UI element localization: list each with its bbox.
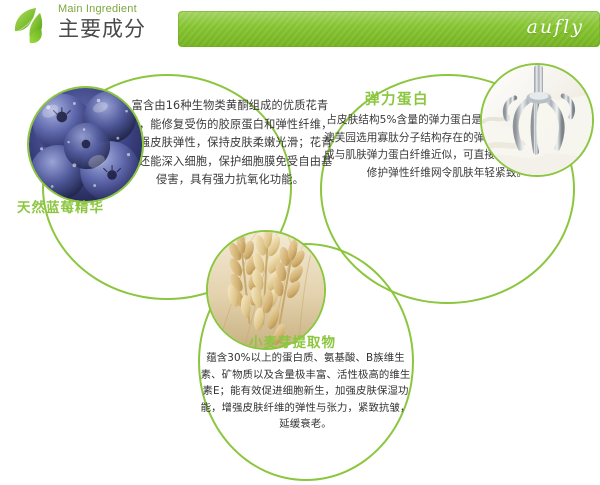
header-banner: aufly — [178, 11, 600, 47]
cream-whisk-photo — [480, 63, 594, 177]
section-label-wheat: 小麦芽提取物 — [249, 331, 336, 351]
brand-logo: aufly — [527, 16, 584, 38]
blueberry-photo — [27, 86, 144, 203]
page-title-en: Main Ingredient — [58, 3, 178, 16]
page-header: Main Ingredient 主要成分 aufly — [0, 0, 600, 52]
description-blueberry: 富含由16种生物类黄酮组成的优质花青素，能修复受伤的胶原蛋白和弹性纤维，增强皮肤… — [125, 97, 335, 190]
page-title-cn: 主要成分 — [58, 16, 178, 42]
leaf-icon — [6, 4, 58, 48]
description-wheat: 蕴含30%以上的蛋白质、氨基酸、B族维生素、矿物质以及含量极丰富、活性极高的维生… — [198, 350, 413, 433]
ingredient-infographic: Main Ingredient 主要成分 aufly 富含由16种生物类黄酮组成… — [0, 0, 600, 485]
section-label-blueberry: 天然蓝莓精华 — [17, 196, 104, 216]
page-title: Main Ingredient 主要成分 — [58, 3, 178, 42]
section-label-elastin: 弹力蛋白 — [365, 88, 429, 109]
